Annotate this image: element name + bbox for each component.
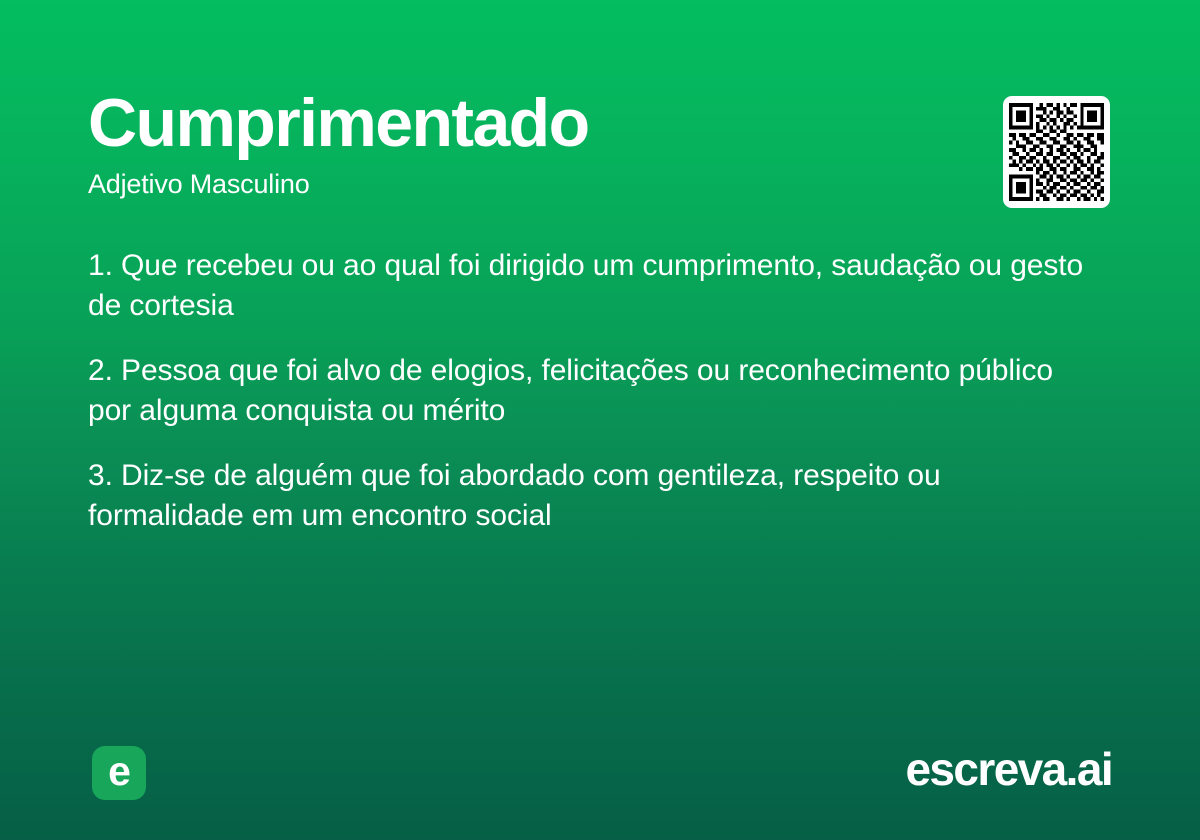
- brand-wordmark: escreva.ai: [905, 738, 1112, 800]
- brand-logo[interactable]: e: [92, 746, 146, 800]
- page-title: Cumprimentado: [88, 86, 968, 160]
- word-class-label: Adjetivo Masculino: [88, 168, 968, 200]
- qr-code-card[interactable]: [1003, 96, 1110, 208]
- list-item: 2. Pessoa que foi alvo de elogios, felic…: [88, 351, 1100, 431]
- brand-logo-letter: e: [92, 746, 146, 800]
- footer: e escreva.ai: [0, 710, 1200, 840]
- list-item: 1. Que recebeu ou ao qual foi dirigido u…: [88, 246, 1100, 326]
- qr-code-icon[interactable]: [1009, 103, 1104, 201]
- list-item: 3. Diz-se de alguém que foi abordado com…: [88, 456, 1100, 536]
- header: Cumprimentado Adjetivo Masculino: [88, 86, 968, 200]
- word-definition-card: Cumprimentado Adjetivo Masculino 1. Que …: [0, 0, 1200, 840]
- definition-list: 1. Que recebeu ou ao qual foi dirigido u…: [88, 246, 1100, 536]
